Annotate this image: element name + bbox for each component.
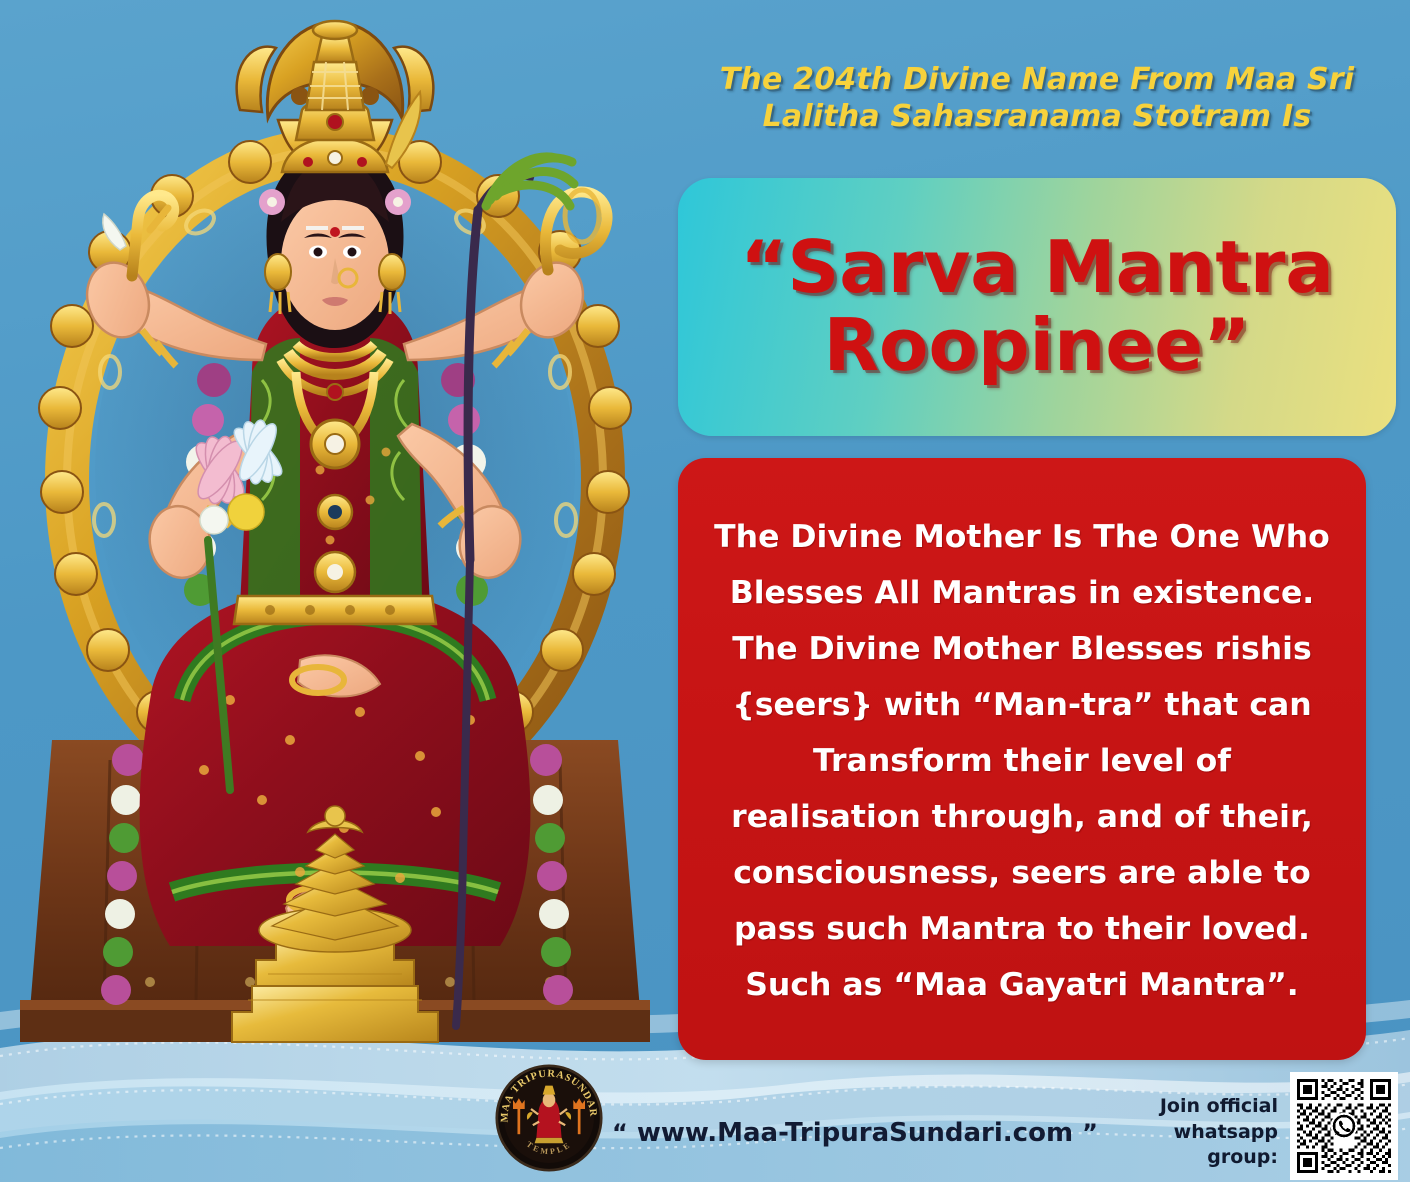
description-line: {seers} with “Man-tra” that can (704, 677, 1340, 733)
website-url[interactable]: “ www.Maa-TripuraSundari.com ” (612, 1118, 1032, 1148)
description-line: The Divine Mother Is The One Who (704, 509, 1340, 565)
quote-open: “ (612, 1119, 628, 1147)
deity-illustration (0, 0, 670, 1100)
divine-name-line-2: Roopinee” (824, 307, 1251, 385)
quote-close: ” (1082, 1119, 1098, 1147)
whatsapp-label-line-1: Join official (1130, 1094, 1278, 1120)
description-line: Such as “Maa Gayatri Mantra”. (704, 957, 1340, 1013)
headline-line-2: Lalitha Sahasranama Stotram Is (672, 99, 1402, 136)
description-line: pass such Mantra to their loved. (704, 901, 1340, 957)
description-line: realisation through, and of their, (704, 789, 1340, 845)
description-line: Blesses All Mantras in existence. (704, 565, 1340, 621)
description-line: The Divine Mother Blesses rishis (704, 621, 1340, 677)
divine-name-banner: “Sarva Mantra Roopinee” (678, 178, 1396, 436)
description-line: consciousness, seers are able to (704, 845, 1340, 901)
whatsapp-label-line-2: whatsapp group: (1130, 1120, 1278, 1171)
temple-logo: MAA TRIPURASUNDARI TEMPLE (495, 1064, 603, 1172)
devotional-poster: The 204th Divine Name From Maa Sri Lalit… (0, 0, 1410, 1182)
whatsapp-label: Join official whatsapp group: (1130, 1094, 1278, 1171)
url-text[interactable]: www.Maa-TripuraSundari.com (637, 1118, 1073, 1148)
description-line: Transform their level of (704, 733, 1340, 789)
whatsapp-qr-code[interactable] (1290, 1072, 1398, 1180)
headline: The 204th Divine Name From Maa Sri Lalit… (672, 62, 1402, 135)
divine-name-line-1: “Sarva Mantra (740, 229, 1334, 307)
description-panel: The Divine Mother Is The One Who Blesses… (678, 458, 1366, 1060)
headline-line-1: The 204th Divine Name From Maa Sri (672, 62, 1402, 99)
